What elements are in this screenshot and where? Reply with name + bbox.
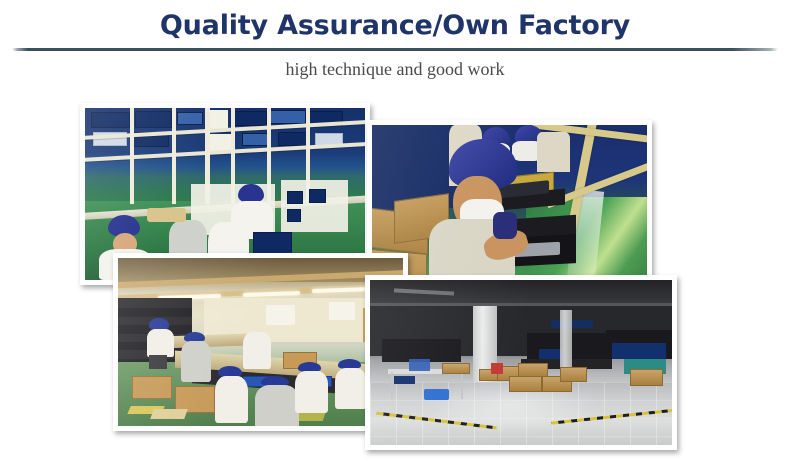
header: Quality Assurance/Own Factory high techn… xyxy=(0,0,790,95)
scene-highlight xyxy=(370,280,672,445)
page-subtitle: high technique and good work xyxy=(0,59,790,80)
photo-bottom-right xyxy=(365,275,677,450)
page-title: Quality Assurance/Own Factory xyxy=(0,10,790,41)
photo-bottom-left-image xyxy=(118,258,403,426)
photo-bottom-left xyxy=(113,253,408,431)
photo-bottom-right-image xyxy=(370,280,672,445)
factory-quality-banner: Quality Assurance/Own Factory high techn… xyxy=(0,0,790,470)
scene-highlight xyxy=(118,258,403,426)
photo-collage xyxy=(0,95,790,470)
title-divider xyxy=(12,48,778,51)
